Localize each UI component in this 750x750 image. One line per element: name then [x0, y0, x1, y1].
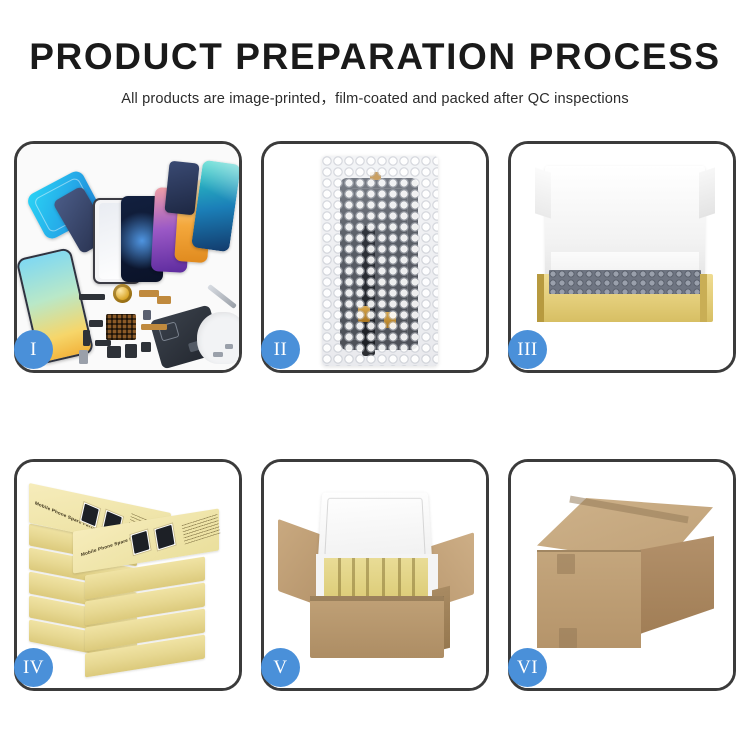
process-step-6[interactable]: VI	[508, 459, 736, 691]
box-edge-left	[537, 274, 544, 322]
page-title: PRODUCT PREPARATION PROCESS	[0, 36, 750, 77]
bubble-texture	[322, 156, 438, 366]
small-part	[79, 294, 105, 300]
small-part	[83, 330, 90, 346]
step-1-image	[17, 144, 239, 370]
small-part	[141, 342, 151, 352]
inner-box-scene	[511, 144, 733, 370]
page-subtitle: All products are image-printed，film-coat…	[0, 87, 750, 108]
speaker-coil-part	[113, 284, 132, 303]
sealed-carton-scene	[511, 462, 733, 688]
carton-seam	[537, 550, 641, 552]
box-stack-scene: Mobile Phone Spare Parts Mobile Phone Sp…	[17, 462, 239, 688]
box-edge-right	[700, 274, 707, 322]
step-badge-4: IV	[14, 648, 53, 687]
carton-tab	[559, 628, 577, 648]
step-3-image	[511, 144, 733, 370]
small-part	[213, 352, 223, 357]
small-part	[125, 344, 137, 358]
process-step-1[interactable]: I	[14, 141, 242, 373]
box-spec-lines	[182, 514, 221, 545]
carton-tab	[557, 554, 575, 574]
bubble-wrapped-contents	[549, 270, 701, 294]
bubble-wrap-bag	[322, 156, 438, 366]
foam-lid	[318, 492, 433, 562]
step-4-image: Mobile Phone Spare Parts Mobile Phone Sp…	[17, 462, 239, 688]
carton-packing-scene	[264, 462, 486, 688]
step-badge-2: II	[261, 330, 300, 369]
small-part	[141, 324, 167, 330]
page-header: PRODUCT PREPARATION PROCESS All products…	[0, 0, 750, 108]
step-6-image	[511, 462, 733, 688]
process-step-5[interactable]: V	[261, 459, 489, 691]
logic-board-chip	[106, 314, 136, 340]
step-2-image	[264, 144, 486, 370]
step-badge-3: III	[508, 330, 547, 369]
step-badge-1: I	[14, 330, 53, 369]
yellow-boxes-inside	[324, 558, 428, 598]
carton-front-panel	[537, 550, 641, 648]
phone-display-navy	[164, 161, 199, 216]
step-5-image	[264, 462, 486, 688]
carton-side-panel	[640, 536, 714, 634]
box-photo	[153, 522, 177, 551]
process-step-4[interactable]: Mobile Phone Spare Parts Mobile Phone Sp…	[14, 459, 242, 691]
phone-parts-scene	[17, 144, 239, 370]
tweezers-tool	[207, 284, 237, 309]
process-step-2[interactable]: II	[261, 141, 489, 373]
small-part	[79, 350, 88, 364]
small-part	[89, 320, 103, 327]
process-step-grid: I II	[14, 141, 736, 691]
step-badge-5: V	[261, 648, 300, 687]
step-badge-6: VI	[508, 648, 547, 687]
small-part	[157, 296, 171, 304]
box-photo	[129, 528, 151, 556]
carton-front-panel	[310, 596, 444, 658]
small-part	[107, 346, 121, 358]
process-step-3[interactable]: III	[508, 141, 736, 373]
small-part	[225, 344, 233, 349]
small-part	[143, 310, 151, 320]
bubble-wrap-scene	[264, 144, 486, 370]
small-part	[139, 290, 159, 297]
